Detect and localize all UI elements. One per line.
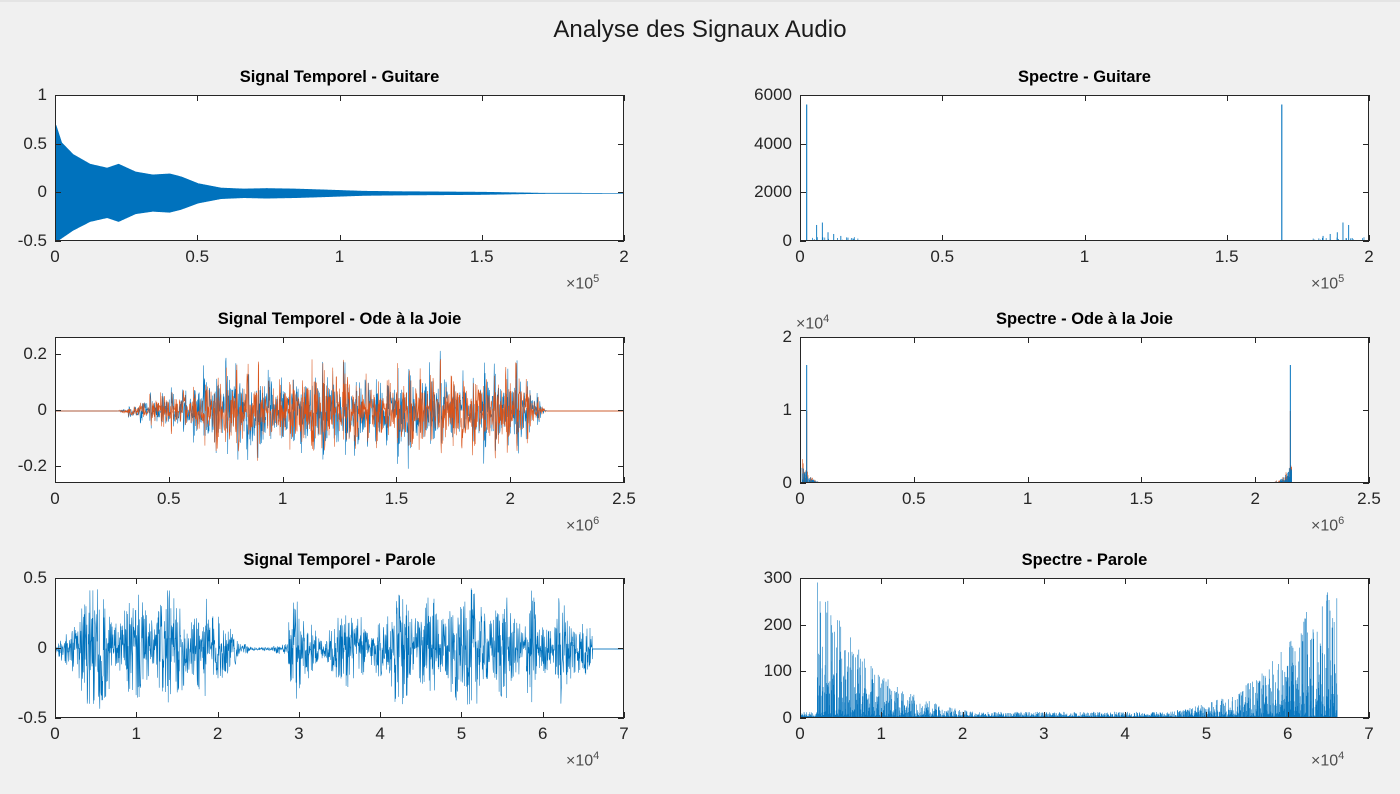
- x-tick-top: [1028, 337, 1029, 343]
- x-tick: [197, 235, 198, 241]
- x-axis-exponent: ×104: [566, 750, 599, 770]
- y-tick-label: 0: [724, 473, 792, 493]
- x-tick-top: [283, 337, 284, 343]
- y-tick: [55, 466, 61, 467]
- x-tick: [624, 712, 625, 718]
- x-tick-top: [197, 95, 198, 101]
- x-tick-label: 0: [795, 724, 804, 744]
- x-tick-top: [543, 578, 544, 584]
- y-tick: [55, 718, 61, 719]
- x-tick-top: [340, 95, 341, 101]
- x-tick: [1255, 477, 1256, 483]
- y-tick-label: 0: [0, 400, 47, 420]
- x-tick-top: [1369, 95, 1370, 101]
- subplot-title: Signal Temporel - Guitare: [55, 68, 624, 87]
- x-tick: [1085, 235, 1086, 241]
- x-tick-label: 1: [1023, 489, 1032, 509]
- x-tick-top: [136, 578, 137, 584]
- y-tick-label: 0: [0, 638, 47, 658]
- y-tick-right: [1363, 192, 1369, 193]
- x-axis-exponent: ×106: [1311, 515, 1344, 535]
- y-tick: [800, 144, 806, 145]
- y-tick-right: [618, 466, 624, 467]
- plot-area[interactable]: [55, 95, 624, 241]
- y-tick: [55, 648, 61, 649]
- subplot-title: Spectre - Guitare: [800, 68, 1369, 87]
- x-tick-top: [624, 95, 625, 101]
- x-tick-label: 2: [213, 724, 222, 744]
- x-tick-top: [914, 337, 915, 343]
- x-tick-label: 2.5: [612, 489, 636, 509]
- x-tick-top: [624, 337, 625, 343]
- x-tick: [283, 477, 284, 483]
- y-tick: [55, 241, 61, 242]
- plot-area[interactable]: [55, 578, 624, 718]
- x-tick-label: 2: [619, 247, 628, 267]
- plot-area[interactable]: [800, 95, 1369, 241]
- y-tick-label: -0.5: [0, 708, 47, 728]
- x-tick-label: 1: [335, 247, 344, 267]
- y-tick-right: [1363, 337, 1369, 338]
- y-tick-right: [618, 95, 624, 96]
- x-tick: [543, 712, 544, 718]
- x-axis-exponent: ×105: [1311, 273, 1344, 293]
- y-tick-label: 1: [724, 400, 792, 420]
- y-tick-label: 200: [724, 615, 792, 635]
- x-tick-top: [380, 578, 381, 584]
- y-tick-label: 6000: [724, 85, 792, 105]
- x-tick-label: 0: [50, 724, 59, 744]
- x-tick-top: [1255, 337, 1256, 343]
- x-tick-top: [1369, 337, 1370, 343]
- x-tick-label: 0.5: [185, 247, 209, 267]
- x-tick-label: 1: [1080, 247, 1089, 267]
- x-tick-label: 1.5: [1130, 489, 1154, 509]
- y-axis-exponent: ×104: [796, 313, 829, 333]
- y-tick: [55, 95, 61, 96]
- x-tick-label: 2: [505, 489, 514, 509]
- x-tick: [624, 235, 625, 241]
- y-tick-label: 0: [0, 182, 47, 202]
- plot-area[interactable]: [800, 337, 1369, 483]
- x-tick-label: 1.5: [470, 247, 494, 267]
- subplot-title: Spectre - Ode à la Joie: [800, 310, 1369, 329]
- y-tick-label: 0.5: [0, 134, 47, 154]
- x-tick-label: 0: [50, 489, 59, 509]
- x-tick: [881, 712, 882, 718]
- y-tick-label: -0.5: [0, 231, 47, 251]
- x-tick: [1369, 235, 1370, 241]
- x-tick: [299, 712, 300, 718]
- x-tick-label: 1: [132, 724, 141, 744]
- x-tick-label: 1.5: [1215, 247, 1239, 267]
- x-tick: [1141, 477, 1142, 483]
- x-tick: [624, 477, 625, 483]
- y-tick: [800, 95, 806, 96]
- y-tick-label: 1: [0, 85, 47, 105]
- y-tick-right: [618, 192, 624, 193]
- y-tick: [800, 718, 806, 719]
- x-tick-label: 3: [1039, 724, 1048, 744]
- x-axis-exponent: ×104: [1311, 750, 1344, 770]
- y-tick-right: [618, 410, 624, 411]
- y-tick-label: 4000: [724, 134, 792, 154]
- y-tick: [55, 578, 61, 579]
- y-tick-right: [1363, 410, 1369, 411]
- x-tick-label: 2.5: [1357, 489, 1381, 509]
- x-tick-top: [881, 578, 882, 584]
- y-tick-right: [1363, 718, 1369, 719]
- y-tick-right: [1363, 144, 1369, 145]
- x-tick-label: 0.5: [157, 489, 181, 509]
- x-tick-top: [482, 95, 483, 101]
- y-tick-right: [1363, 671, 1369, 672]
- x-tick-label: 1: [278, 489, 287, 509]
- x-tick: [1044, 712, 1045, 718]
- x-tick-top: [1044, 578, 1045, 584]
- matlab-figure-window: Analyse des Signaux Audio Signal Tempore…: [0, 0, 1400, 794]
- x-tick: [136, 712, 137, 718]
- y-tick-label: 100: [724, 661, 792, 681]
- x-tick-top: [1227, 95, 1228, 101]
- y-tick-label: 0: [724, 231, 792, 251]
- y-tick: [55, 354, 61, 355]
- x-tick-label: 1.5: [385, 489, 409, 509]
- x-tick: [1369, 477, 1370, 483]
- x-tick-top: [396, 337, 397, 343]
- x-tick-top: [1141, 337, 1142, 343]
- x-tick: [1206, 712, 1207, 718]
- x-tick-top: [510, 337, 511, 343]
- y-tick: [55, 410, 61, 411]
- y-tick: [800, 578, 806, 579]
- x-tick-label: 2: [958, 724, 967, 744]
- y-tick: [800, 625, 806, 626]
- subplot-title: Spectre - Parole: [800, 551, 1369, 570]
- subplot-title: Signal Temporel - Ode à la Joie: [55, 310, 624, 329]
- x-tick-label: 0: [795, 247, 804, 267]
- x-tick: [1288, 712, 1289, 718]
- y-tick: [800, 410, 806, 411]
- y-tick: [800, 483, 806, 484]
- x-tick-label: 0.5: [930, 247, 954, 267]
- y-tick-right: [1363, 95, 1369, 96]
- subplot-signal-parole: Signal Temporel - Parole: [55, 578, 624, 718]
- y-tick-label: 0: [724, 708, 792, 728]
- x-tick: [1028, 477, 1029, 483]
- x-tick: [914, 477, 915, 483]
- y-tick: [800, 337, 806, 338]
- x-tick: [461, 712, 462, 718]
- subplot-signal-guitare: Signal Temporel - Guitare: [55, 95, 624, 241]
- x-tick-top: [218, 578, 219, 584]
- y-tick-right: [618, 241, 624, 242]
- x-tick-label: 0.5: [902, 489, 926, 509]
- x-tick-top: [963, 578, 964, 584]
- subplot-signal-ode: Signal Temporel - Ode à la Joie: [55, 337, 624, 483]
- x-tick-top: [55, 337, 56, 343]
- y-tick-right: [1363, 241, 1369, 242]
- x-tick-top: [461, 578, 462, 584]
- x-tick-label: 3: [294, 724, 303, 744]
- y-tick-right: [1363, 483, 1369, 484]
- x-tick: [380, 712, 381, 718]
- x-tick: [55, 477, 56, 483]
- y-tick: [55, 192, 61, 193]
- y-tick-label: 0.2: [0, 344, 47, 364]
- y-tick-right: [618, 354, 624, 355]
- x-tick-label: 0: [50, 247, 59, 267]
- figure-title: Analyse des Signaux Audio: [0, 16, 1400, 44]
- x-tick: [1125, 712, 1126, 718]
- x-tick-top: [1125, 578, 1126, 584]
- y-tick: [55, 144, 61, 145]
- x-tick-label: 2: [1250, 489, 1259, 509]
- x-tick-top: [1369, 578, 1370, 584]
- x-tick-top: [624, 578, 625, 584]
- x-tick-top: [1288, 578, 1289, 584]
- x-tick: [169, 477, 170, 483]
- y-tick: [800, 192, 806, 193]
- x-tick: [510, 477, 511, 483]
- x-tick: [218, 712, 219, 718]
- x-tick-top: [169, 337, 170, 343]
- x-tick: [396, 477, 397, 483]
- subplot-title: Signal Temporel - Parole: [55, 551, 624, 570]
- x-tick: [942, 235, 943, 241]
- x-tick-label: 1: [877, 724, 886, 744]
- subplot-spectre-guitare: Spectre - Guitare: [800, 95, 1369, 241]
- x-tick-top: [1206, 578, 1207, 584]
- x-axis-exponent: ×105: [566, 273, 599, 293]
- x-tick: [340, 235, 341, 241]
- x-tick-label: 6: [538, 724, 547, 744]
- x-tick-label: 5: [457, 724, 466, 744]
- x-tick-top: [299, 578, 300, 584]
- x-tick-label: 6: [1283, 724, 1292, 744]
- subplot-spectre-ode: Spectre - Ode à la Joie: [800, 337, 1369, 483]
- y-tick-right: [618, 578, 624, 579]
- y-tick-right: [1363, 625, 1369, 626]
- y-tick: [800, 671, 806, 672]
- x-tick-top: [942, 95, 943, 101]
- plot-area[interactable]: [800, 578, 1369, 718]
- y-tick-label: -0.2: [0, 456, 47, 476]
- x-tick-top: [1085, 95, 1086, 101]
- y-tick-right: [1363, 578, 1369, 579]
- x-tick-label: 7: [1364, 724, 1373, 744]
- y-tick-label: 0.5: [0, 568, 47, 588]
- y-tick-label: 2000: [724, 182, 792, 202]
- x-tick: [1227, 235, 1228, 241]
- subplot-spectre-parole: Spectre - Parole: [800, 578, 1369, 718]
- x-axis-exponent: ×106: [566, 515, 599, 535]
- y-tick-right: [618, 718, 624, 719]
- x-tick-label: 4: [1120, 724, 1129, 744]
- y-tick: [800, 241, 806, 242]
- x-tick-label: 5: [1202, 724, 1211, 744]
- x-tick: [963, 712, 964, 718]
- x-tick-label: 0: [795, 489, 804, 509]
- y-tick-right: [618, 648, 624, 649]
- plot-area[interactable]: [55, 337, 624, 483]
- y-tick-right: [618, 144, 624, 145]
- x-tick: [482, 235, 483, 241]
- x-tick-label: 2: [1364, 247, 1373, 267]
- y-tick-label: 300: [724, 568, 792, 588]
- x-tick-label: 4: [375, 724, 384, 744]
- x-tick-label: 7: [619, 724, 628, 744]
- y-tick-label: 2: [724, 327, 792, 347]
- x-tick: [1369, 712, 1370, 718]
